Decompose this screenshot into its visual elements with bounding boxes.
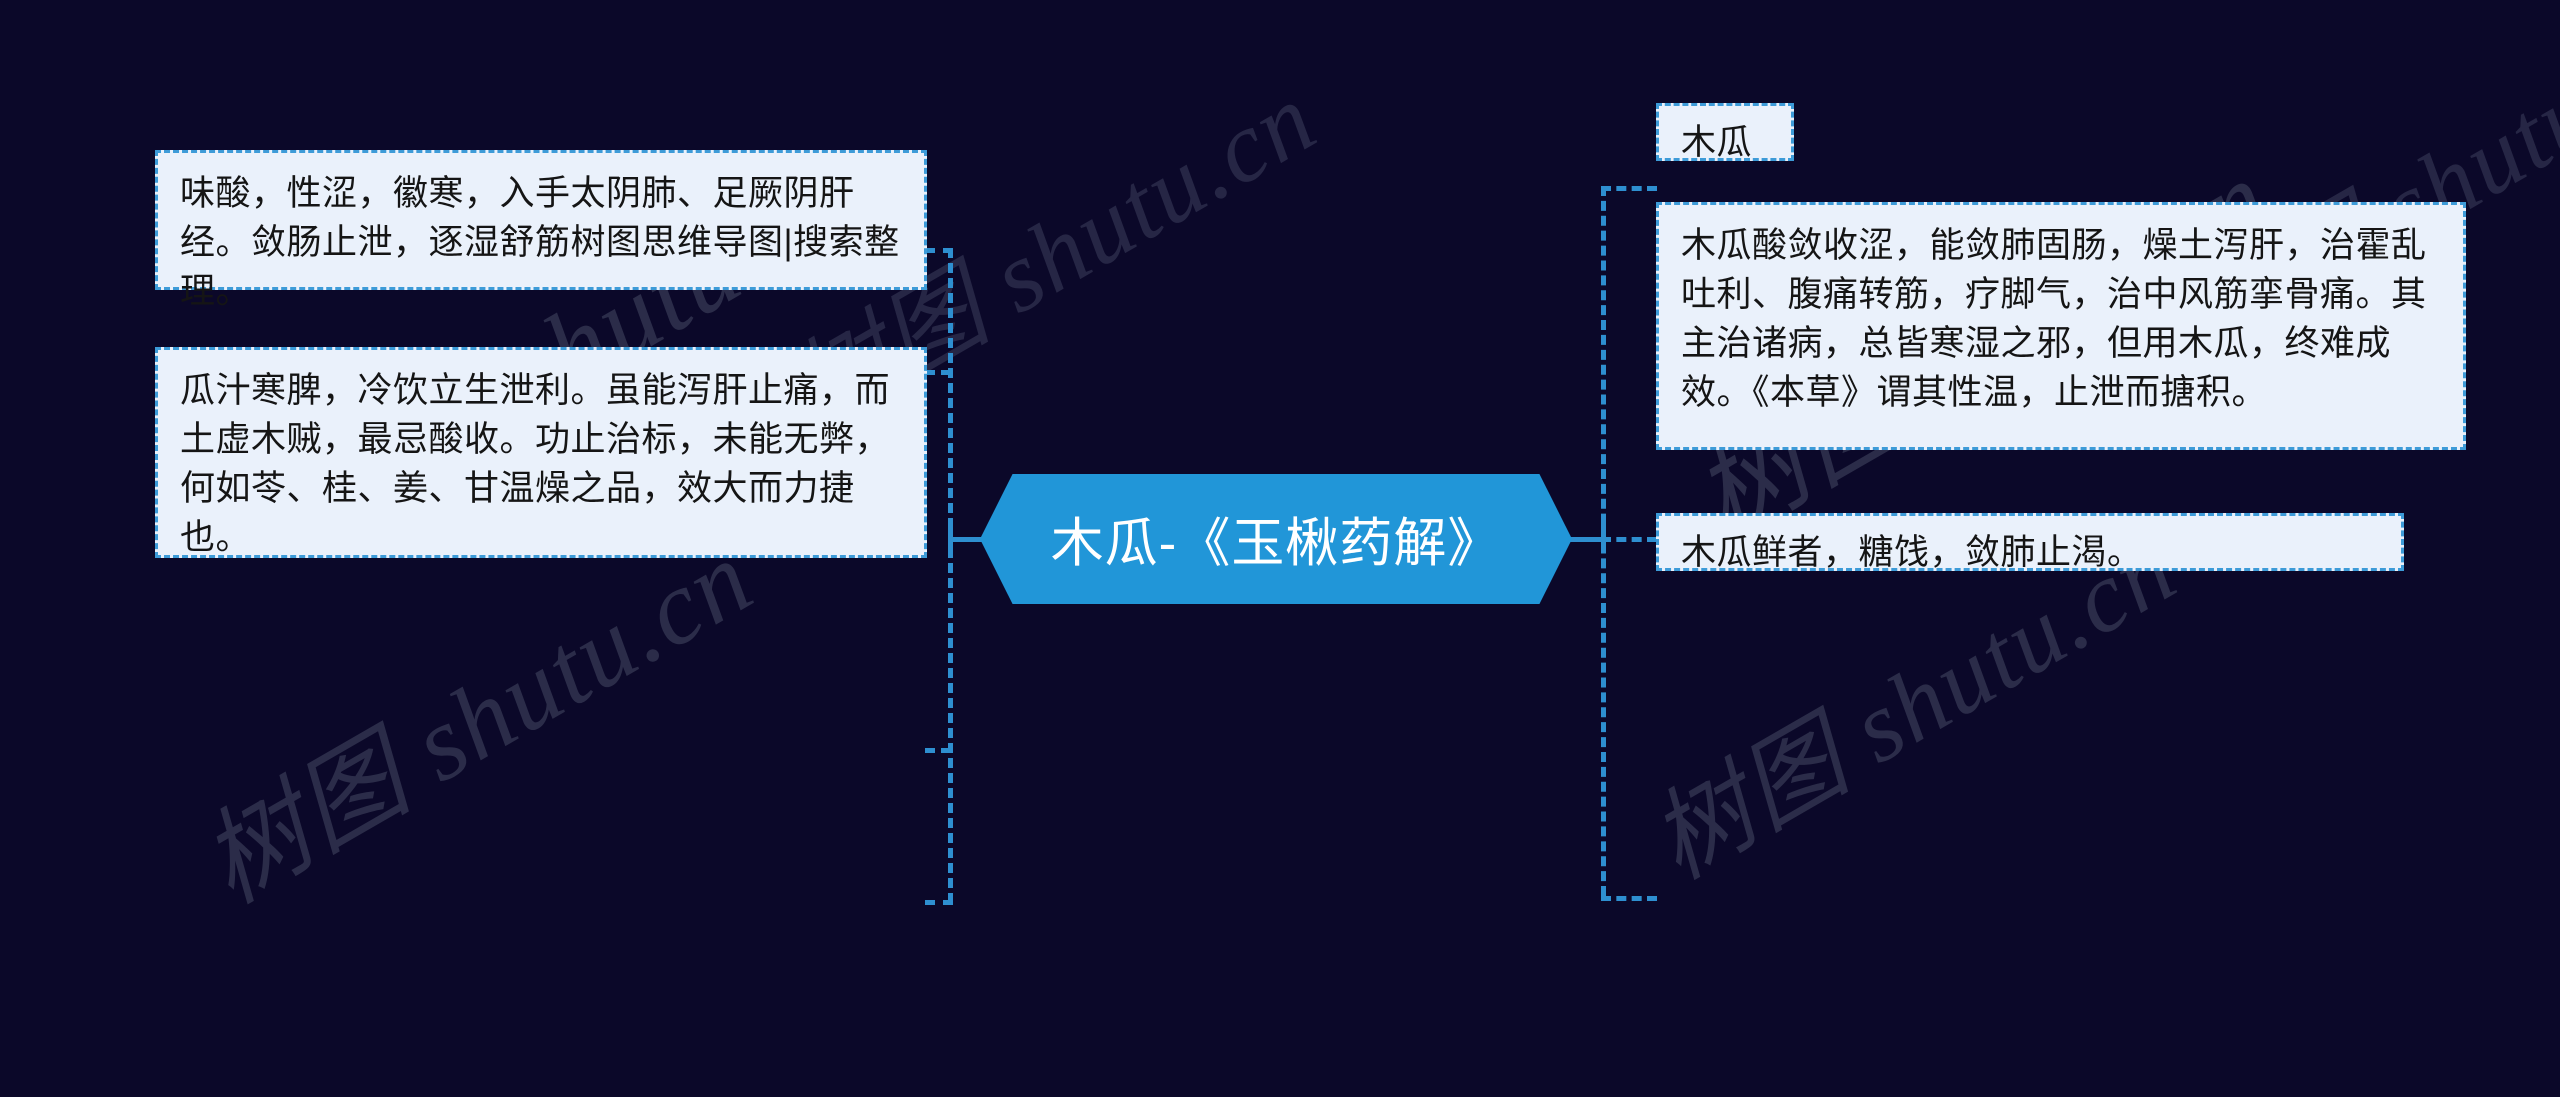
left-node-1-text: 味酸，性涩，徽寒，入手太阴肺、足厥阴肝经。敛肠止泄，逐湿舒筋树图思维导图|搜索整… [180,174,900,311]
left-edge-tick-2 [925,748,951,753]
right-connector-3 [1601,896,1657,901]
left-edge-tick-1 [925,370,951,375]
right-node-1[interactable]: 木瓜 [1656,103,1794,161]
mindmap-canvas: 木瓜-《玉楸药解》 味酸，性涩，徽寒，入手太阴肺、足厥阴肝经。敛肠止泄，逐湿舒筋… [0,0,2560,1097]
right-connector-2 [1601,537,1657,542]
watermark-text: 树图 shutu.cn [170,494,775,931]
right-spine-junction [1601,520,1606,552]
right-node-2[interactable]: 木瓜酸敛收涩，能敛肺固肠，燥土泻肝，治霍乱吐利、腹痛转筋，疗脚气，治中风筋挛骨痛… [1656,202,2466,450]
right-node-1-text: 木瓜 [1681,123,1752,162]
root-node[interactable]: 木瓜-《玉楸药解》 [980,474,1572,604]
left-node-2[interactable]: 瓜汁寒脾，冷饮立生泄利。虽能泻肝止痛，而土虚木贼，最忌酸收。功止治标，未能无弊，… [155,347,927,558]
left-spine-junction [948,520,953,552]
left-node-2-text: 瓜汁寒脾，冷饮立生泄利。虽能泻肝止痛，而土虚木贼，最忌酸收。功止治标，未能无弊，… [180,371,890,557]
left-branch-spine [948,248,953,903]
right-node-3-text: 木瓜鲜者，糖饯，敛肺止渴。 [1681,533,2143,572]
root-node-label: 木瓜-《玉楸药解》 [1051,501,1502,577]
right-connector-1 [1601,186,1657,191]
left-node-1[interactable]: 味酸，性涩，徽寒，入手太阴肺、足厥阴肝经。敛肠止泄，逐湿舒筋树图思维导图|搜索整… [155,150,927,290]
left-connector-2 [925,900,953,905]
left-connector-1 [925,248,953,253]
right-node-3[interactable]: 木瓜鲜者，糖饯，敛肺止渴。 [1656,513,2404,571]
right-node-2-text: 木瓜酸敛收涩，能敛肺固肠，燥土泻肝，治霍乱吐利、腹痛转筋，疗脚气，治中风筋挛骨痛… [1681,226,2427,412]
